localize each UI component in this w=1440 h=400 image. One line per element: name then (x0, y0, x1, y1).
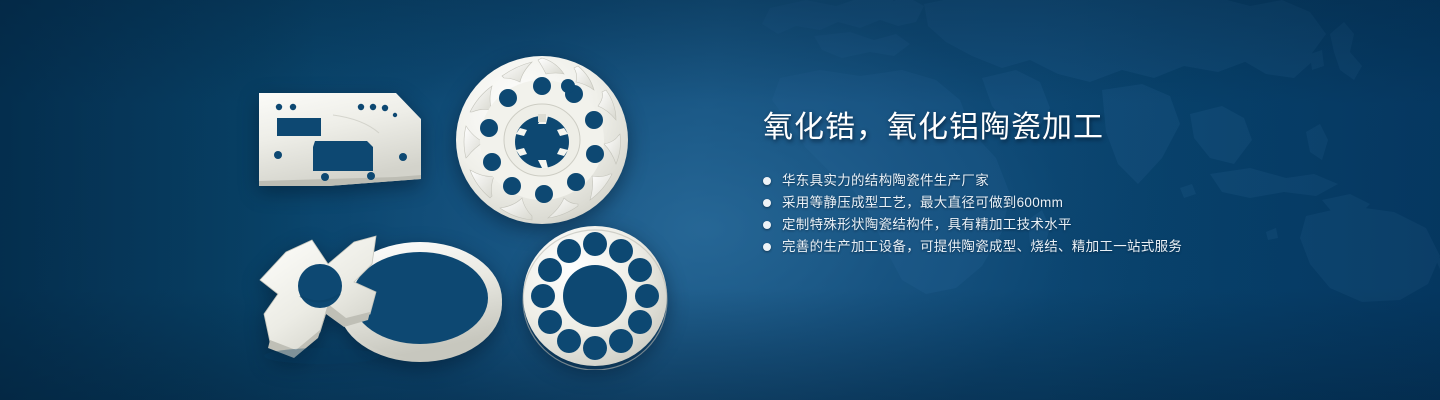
feature-text: 华东具实力的结构陶瓷件生产厂家 (782, 170, 989, 192)
product-image-group (0, 0, 740, 400)
feature-text: 采用等静压成型工艺，最大直径可做到600mm (782, 192, 1063, 214)
bullet-dot-icon (763, 221, 771, 229)
banner-text-block: 氧化锆，氧化铝陶瓷加工 华东具实力的结构陶瓷件生产厂家 采用等静压成型工艺，最大… (763, 108, 1363, 258)
bullet-dot-icon (763, 243, 771, 251)
bullet-dot-icon (763, 199, 771, 207)
bullet-dot-icon (763, 177, 771, 185)
product-ceramic-plate (255, 85, 425, 197)
feature-list: 华东具实力的结构陶瓷件生产厂家 采用等静压成型工艺，最大直径可做到600mm 定… (763, 170, 1363, 258)
list-item: 采用等静压成型工艺，最大直径可做到600mm (763, 192, 1363, 214)
feature-text: 定制特殊形状陶瓷结构件，具有精加工技术水平 (782, 214, 1072, 236)
list-item: 完善的生产加工设备，可提供陶瓷成型、烧结、精加工一站式服务 (763, 236, 1363, 258)
product-ceramic-star-and-ring (250, 228, 515, 368)
list-item: 定制特殊形状陶瓷结构件，具有精加工技术水平 (763, 214, 1363, 236)
hero-banner: 氧化锆，氧化铝陶瓷加工 华东具实力的结构陶瓷件生产厂家 采用等静压成型工艺，最大… (0, 0, 1440, 400)
product-ceramic-impeller (452, 52, 632, 224)
list-item: 华东具实力的结构陶瓷件生产厂家 (763, 170, 1363, 192)
page-title: 氧化锆，氧化铝陶瓷加工 (763, 108, 1363, 148)
product-ceramic-perforated-disc (515, 220, 675, 370)
feature-text: 完善的生产加工设备，可提供陶瓷成型、烧结、精加工一站式服务 (782, 236, 1182, 258)
